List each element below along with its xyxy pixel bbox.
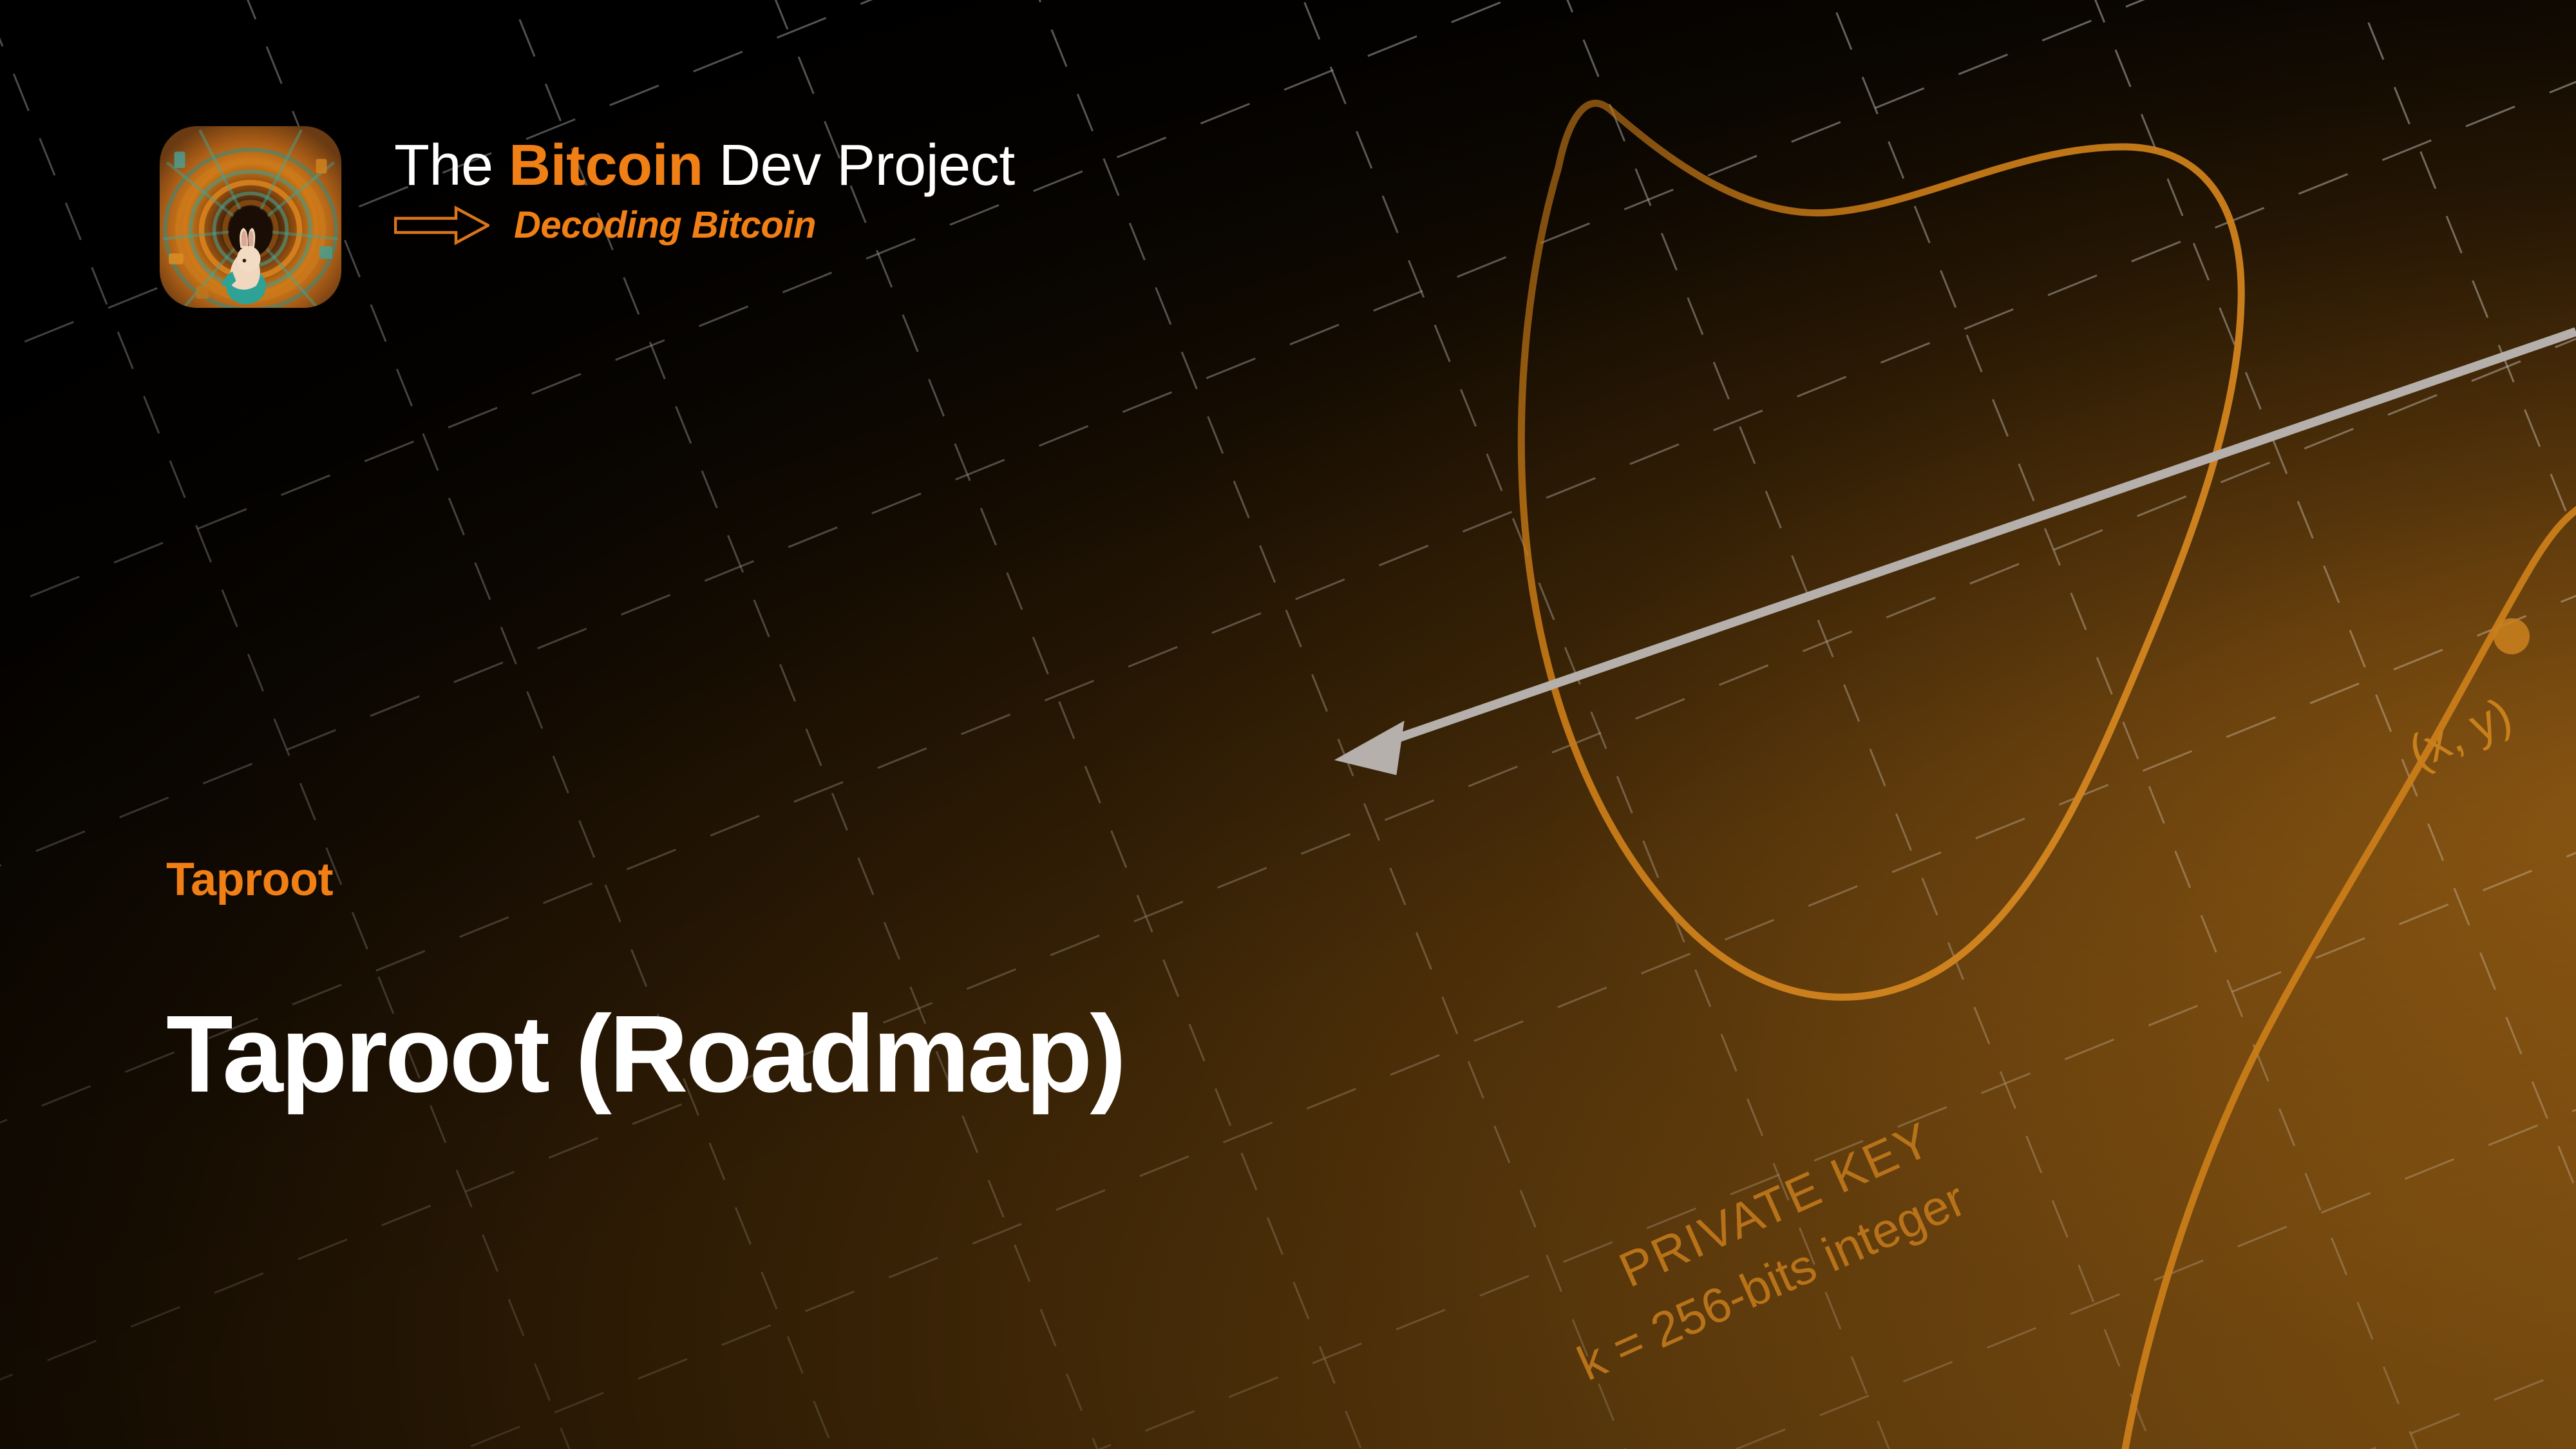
hero-block: Taproot Taproot (Roadmap)	[166, 857, 1124, 1109]
right-block-arrow-icon	[394, 205, 489, 245]
brand-title-suffix: Dev Project	[703, 133, 1015, 198]
point-coordinates-label: (x, y)	[2401, 687, 2519, 779]
brand-header: The Bitcoin Dev Project Decoding Bitcoin	[160, 126, 1015, 308]
topic-eyebrow: Taproot	[166, 857, 1124, 903]
elliptic-curve-loop	[1521, 103, 2241, 997]
slide-canvas: PUBLIC KEY (x, y) PRIVATE KEY k = 256-bi…	[0, 0, 2576, 1449]
public-key-label: PUBLIC KEY	[2568, 330, 2576, 498]
brand-title: The Bitcoin Dev Project	[394, 135, 1015, 196]
brand-tagline: Decoding Bitcoin	[514, 207, 816, 244]
rabbit-in-library-tunnel-logo	[160, 126, 341, 308]
brand-title-prefix: The	[394, 133, 509, 198]
brand-tagline-row: Decoding Bitcoin	[394, 205, 1015, 245]
logo-badge[interactable]	[160, 126, 341, 308]
curve-point-marker	[2494, 618, 2530, 654]
brand-title-accent: Bitcoin	[509, 133, 703, 198]
page-title: Taproot (Roadmap)	[166, 999, 1124, 1109]
brand-text-block: The Bitcoin Dev Project Decoding Bitcoin	[394, 126, 1015, 245]
